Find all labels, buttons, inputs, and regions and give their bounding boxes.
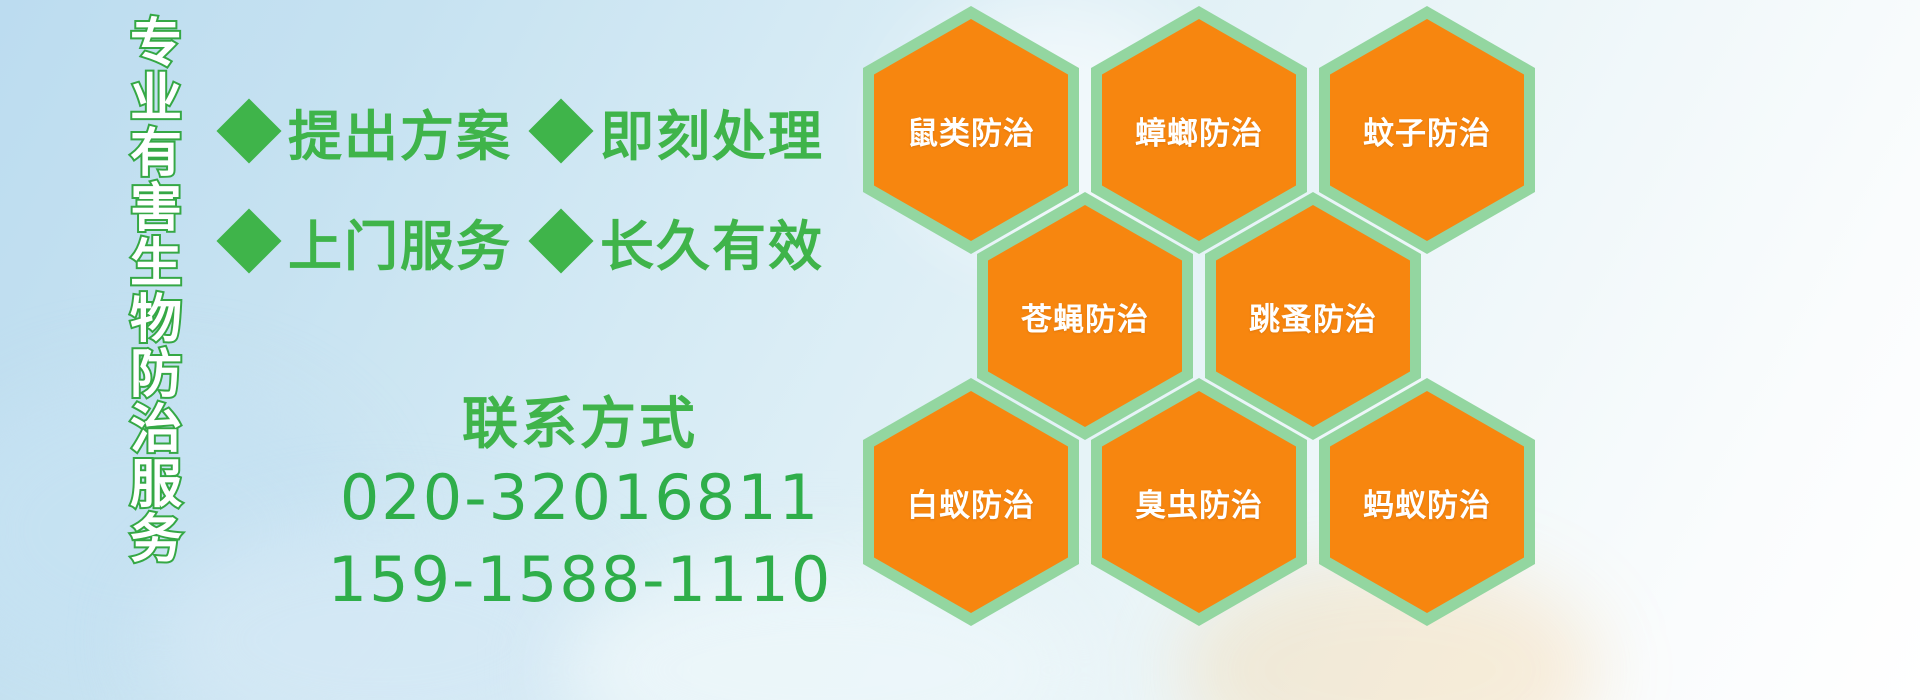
- phone-number-mobile[interactable]: 159-1588-1110: [300, 539, 860, 621]
- vertical-headline-char: 物: [130, 294, 182, 346]
- diamond-bullet-icon: [528, 98, 593, 163]
- contact-title: 联系方式: [300, 394, 860, 457]
- feature-item: 上门服务: [226, 202, 512, 281]
- feature-item: 即刻处理: [538, 92, 824, 171]
- vertical-headline: 专 业 有 害 生 物 防 治 服 务: [108, 18, 204, 566]
- feature-label: 长久有效: [600, 202, 824, 281]
- feature-label: 上门服务: [288, 202, 512, 281]
- phone-number-landline[interactable]: 020-32016811: [300, 457, 860, 539]
- vertical-headline-char: 务: [130, 514, 182, 566]
- feature-item: 提出方案: [226, 92, 512, 171]
- contact-block: 联系方式 020-32016811 159-1588-1110: [300, 394, 860, 620]
- service-hex-label: 臭虫防治: [1135, 480, 1263, 525]
- vertical-headline-char: 防: [130, 349, 182, 401]
- vertical-headline-char: 有: [130, 128, 182, 180]
- feature-item: 长久有效: [538, 202, 824, 281]
- service-hex-label: 跳蚤防治: [1249, 294, 1377, 339]
- diamond-bullet-icon: [216, 98, 281, 163]
- vertical-headline-char: 专: [130, 18, 182, 70]
- vertical-headline-char: 害: [130, 183, 182, 235]
- service-hex-label: 蚂蚁防治: [1363, 480, 1491, 525]
- vertical-headline-char: 业: [130, 73, 182, 125]
- vertical-headline-char: 服: [130, 459, 182, 511]
- feature-label: 提出方案: [288, 92, 512, 171]
- feature-row: 上门服务 长久有效: [226, 186, 866, 296]
- diamond-bullet-icon: [528, 208, 593, 273]
- service-hex-label: 白蚁防治: [907, 480, 1035, 525]
- service-hex-label: 蟑螂防治: [1135, 108, 1263, 153]
- diamond-bullet-icon: [216, 208, 281, 273]
- feature-list: 提出方案 即刻处理 上门服务 长久有效: [226, 76, 866, 296]
- feature-label: 即刻处理: [600, 92, 824, 171]
- service-hex-label: 鼠类防治: [907, 108, 1035, 153]
- vertical-headline-char: 生: [130, 238, 182, 290]
- service-honeycomb-grid: 鼠类防治 蟑螂防治 蚊子防治 苍蝇防治 跳蚤防治 白蚁防治 臭虫防治 蚂蚁: [855, 0, 1555, 700]
- feature-row: 提出方案 即刻处理: [226, 76, 866, 186]
- service-hex-label: 蚊子防治: [1363, 108, 1491, 153]
- vertical-headline-char: 治: [130, 404, 182, 456]
- service-hex-label: 苍蝇防治: [1021, 294, 1149, 339]
- pest-control-service-banner: 专 业 有 害 生 物 防 治 服 务 提出方案 即刻处理 上门服务: [0, 0, 1920, 700]
